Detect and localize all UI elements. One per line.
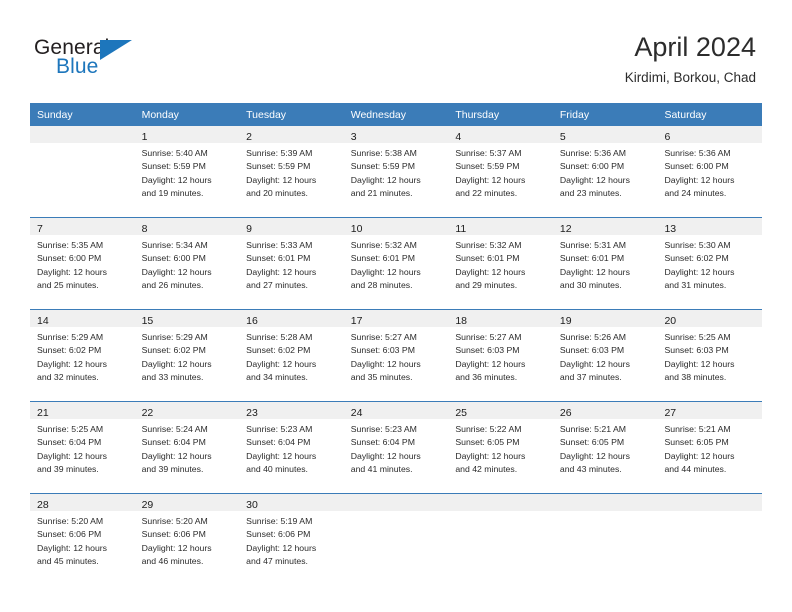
day-number-band [657, 494, 762, 511]
day-detail-line: Daylight: 12 hours [142, 542, 236, 555]
day-detail-line: Daylight: 12 hours [664, 174, 758, 187]
calendar-page: General Blue April 2024 Kirdimi, Borkou,… [0, 0, 792, 612]
day-number-band: 14 [30, 310, 135, 327]
day-detail-line: Daylight: 12 hours [246, 174, 340, 187]
day-details: Sunrise: 5:27 AMSunset: 6:03 PMDaylight:… [344, 327, 449, 384]
day-detail-line: Sunrise: 5:19 AM [246, 515, 340, 528]
calendar-week-row: 1Sunrise: 5:40 AMSunset: 5:59 PMDaylight… [30, 126, 762, 217]
day-detail-line: Sunset: 6:03 PM [455, 344, 549, 357]
day-detail-line: Daylight: 12 hours [142, 358, 236, 371]
calendar-day-cell[interactable]: 18Sunrise: 5:27 AMSunset: 6:03 PMDayligh… [448, 310, 553, 401]
day-detail-line: Sunrise: 5:37 AM [455, 147, 549, 160]
day-details: Sunrise: 5:29 AMSunset: 6:02 PMDaylight:… [30, 327, 135, 384]
day-detail-line: Sunset: 6:03 PM [351, 344, 445, 357]
day-detail-line: Daylight: 12 hours [560, 358, 654, 371]
day-details: Sunrise: 5:19 AMSunset: 6:06 PMDaylight:… [239, 511, 344, 568]
day-number-band: 30 [239, 494, 344, 511]
day-number-band: 20 [657, 310, 762, 327]
day-detail-line: Sunset: 6:04 PM [37, 436, 131, 449]
day-number-band: 7 [30, 218, 135, 235]
day-number: 28 [37, 499, 49, 511]
day-detail-line: Sunrise: 5:36 AM [664, 147, 758, 160]
day-number: 29 [142, 499, 154, 511]
day-detail-line: and 26 minutes. [142, 279, 236, 292]
page-header: General Blue April 2024 Kirdimi, Borkou,… [0, 0, 792, 100]
day-detail-line: Sunset: 6:02 PM [664, 252, 758, 265]
day-number: 21 [37, 407, 49, 419]
day-detail-line: Sunset: 6:06 PM [37, 528, 131, 541]
day-detail-line: Sunrise: 5:25 AM [664, 331, 758, 344]
day-detail-line: Sunrise: 5:35 AM [37, 239, 131, 252]
weekday-header-saturday: Saturday [657, 103, 762, 126]
weekday-header-thursday: Thursday [448, 103, 553, 126]
day-detail-line: Daylight: 12 hours [560, 450, 654, 463]
day-detail-line: Sunset: 6:05 PM [560, 436, 654, 449]
day-detail-line: Sunset: 6:05 PM [664, 436, 758, 449]
day-details: Sunrise: 5:21 AMSunset: 6:05 PMDaylight:… [657, 419, 762, 476]
day-detail-line: and 42 minutes. [455, 463, 549, 476]
day-details: Sunrise: 5:23 AMSunset: 6:04 PMDaylight:… [344, 419, 449, 476]
day-details: Sunrise: 5:25 AMSunset: 6:04 PMDaylight:… [30, 419, 135, 476]
calendar-day-cell-empty [448, 494, 553, 585]
day-detail-line: Sunset: 5:59 PM [246, 160, 340, 173]
day-number-band: 2 [239, 126, 344, 143]
day-details: Sunrise: 5:22 AMSunset: 6:05 PMDaylight:… [448, 419, 553, 476]
day-number-band: 11 [448, 218, 553, 235]
day-detail-line: Sunset: 6:05 PM [455, 436, 549, 449]
day-detail-line: Sunset: 6:01 PM [455, 252, 549, 265]
day-detail-line: Sunrise: 5:23 AM [351, 423, 445, 436]
day-details: Sunrise: 5:32 AMSunset: 6:01 PMDaylight:… [448, 235, 553, 292]
day-details [553, 511, 658, 515]
day-detail-line: Sunset: 6:04 PM [351, 436, 445, 449]
page-subtitle: Kirdimi, Borkou, Chad [625, 68, 756, 88]
day-detail-line: Sunset: 5:59 PM [351, 160, 445, 173]
day-detail-line: and 29 minutes. [455, 279, 549, 292]
day-number: 6 [664, 131, 670, 143]
day-number-band: 19 [553, 310, 658, 327]
day-number: 9 [246, 223, 252, 235]
day-detail-line: Sunrise: 5:36 AM [560, 147, 654, 160]
day-detail-line: Sunset: 6:01 PM [560, 252, 654, 265]
day-detail-line: Daylight: 12 hours [455, 358, 549, 371]
day-details: Sunrise: 5:27 AMSunset: 6:03 PMDaylight:… [448, 327, 553, 384]
page-title: April 2024 [625, 31, 756, 63]
day-number-band [448, 494, 553, 511]
title-block: April 2024 Kirdimi, Borkou, Chad [625, 31, 756, 88]
day-detail-line: Sunset: 6:06 PM [142, 528, 236, 541]
calendar-day-cell[interactable]: 8Sunrise: 5:34 AMSunset: 6:00 PMDaylight… [135, 218, 240, 309]
day-details: Sunrise: 5:28 AMSunset: 6:02 PMDaylight:… [239, 327, 344, 384]
day-detail-line: and 19 minutes. [142, 187, 236, 200]
day-number-band [344, 494, 449, 511]
day-detail-line: and 46 minutes. [142, 555, 236, 568]
day-detail-line: and 38 minutes. [664, 371, 758, 384]
day-details: Sunrise: 5:24 AMSunset: 6:04 PMDaylight:… [135, 419, 240, 476]
calendar-day-cell-empty [657, 494, 762, 585]
day-detail-line: Daylight: 12 hours [37, 542, 131, 555]
calendar-day-cell[interactable]: 16Sunrise: 5:28 AMSunset: 6:02 PMDayligh… [239, 310, 344, 401]
day-number: 26 [560, 407, 572, 419]
day-detail-line: Daylight: 12 hours [246, 266, 340, 279]
calendar-day-cell[interactable]: 5Sunrise: 5:36 AMSunset: 6:00 PMDaylight… [553, 126, 658, 217]
calendar-day-cell[interactable]: 2Sunrise: 5:39 AMSunset: 5:59 PMDaylight… [239, 126, 344, 217]
day-detail-line: Daylight: 12 hours [246, 450, 340, 463]
day-number: 4 [455, 131, 461, 143]
day-detail-line: Sunset: 6:04 PM [142, 436, 236, 449]
day-detail-line: Sunrise: 5:22 AM [455, 423, 549, 436]
calendar-day-cell-empty [344, 494, 449, 585]
day-number-band: 22 [135, 402, 240, 419]
day-detail-line: and 37 minutes. [560, 371, 654, 384]
day-detail-line: Sunrise: 5:34 AM [142, 239, 236, 252]
day-detail-line: Daylight: 12 hours [664, 358, 758, 371]
day-details: Sunrise: 5:34 AMSunset: 6:00 PMDaylight:… [135, 235, 240, 292]
calendar-day-cell[interactable]: 22Sunrise: 5:24 AMSunset: 6:04 PMDayligh… [135, 402, 240, 493]
day-number: 12 [560, 223, 572, 235]
day-number: 27 [664, 407, 676, 419]
day-details: Sunrise: 5:37 AMSunset: 5:59 PMDaylight:… [448, 143, 553, 200]
day-number: 19 [560, 315, 572, 327]
day-number-band: 5 [553, 126, 658, 143]
day-detail-line: and 45 minutes. [37, 555, 131, 568]
calendar-day-cell[interactable]: 11Sunrise: 5:32 AMSunset: 6:01 PMDayligh… [448, 218, 553, 309]
day-number-band: 15 [135, 310, 240, 327]
calendar-week-row: 28Sunrise: 5:20 AMSunset: 6:06 PMDayligh… [30, 493, 762, 585]
day-number-band: 26 [553, 402, 658, 419]
day-detail-line: and 41 minutes. [351, 463, 445, 476]
day-detail-line: Daylight: 12 hours [664, 450, 758, 463]
day-detail-line: and 40 minutes. [246, 463, 340, 476]
day-detail-line: Sunset: 6:00 PM [664, 160, 758, 173]
day-detail-line: Sunset: 6:01 PM [246, 252, 340, 265]
day-number: 11 [455, 223, 466, 235]
day-details [344, 511, 449, 515]
brand-logo[interactable]: General Blue [34, 36, 164, 84]
calendar-day-cell[interactable]: 25Sunrise: 5:22 AMSunset: 6:05 PMDayligh… [448, 402, 553, 493]
day-detail-line: Sunset: 5:59 PM [455, 160, 549, 173]
calendar-grid: SundayMondayTuesdayWednesdayThursdayFrid… [30, 103, 762, 585]
day-details: Sunrise: 5:33 AMSunset: 6:01 PMDaylight:… [239, 235, 344, 292]
day-detail-line: and 32 minutes. [37, 371, 131, 384]
day-detail-line: and 44 minutes. [664, 463, 758, 476]
day-details: Sunrise: 5:21 AMSunset: 6:05 PMDaylight:… [553, 419, 658, 476]
day-number: 13 [664, 223, 676, 235]
day-detail-line: Sunrise: 5:27 AM [351, 331, 445, 344]
day-detail-line: Daylight: 12 hours [455, 266, 549, 279]
day-number-band: 8 [135, 218, 240, 235]
day-number-band: 10 [344, 218, 449, 235]
day-details: Sunrise: 5:30 AMSunset: 6:02 PMDaylight:… [657, 235, 762, 292]
day-detail-line: Sunrise: 5:20 AM [37, 515, 131, 528]
day-detail-line: and 23 minutes. [560, 187, 654, 200]
day-detail-line: and 43 minutes. [560, 463, 654, 476]
day-number: 30 [246, 499, 258, 511]
day-number-band: 23 [239, 402, 344, 419]
day-detail-line: Sunset: 6:06 PM [246, 528, 340, 541]
day-detail-line: Sunset: 6:03 PM [664, 344, 758, 357]
calendar-day-cell[interactable]: 27Sunrise: 5:21 AMSunset: 6:05 PMDayligh… [657, 402, 762, 493]
day-number-band: 9 [239, 218, 344, 235]
day-details: Sunrise: 5:39 AMSunset: 5:59 PMDaylight:… [239, 143, 344, 200]
day-number-band: 16 [239, 310, 344, 327]
day-details: Sunrise: 5:38 AMSunset: 5:59 PMDaylight:… [344, 143, 449, 200]
day-number-band: 13 [657, 218, 762, 235]
day-details: Sunrise: 5:20 AMSunset: 6:06 PMDaylight:… [135, 511, 240, 568]
day-number-band: 18 [448, 310, 553, 327]
calendar-day-cell[interactable]: 14Sunrise: 5:29 AMSunset: 6:02 PMDayligh… [30, 310, 135, 401]
brand-triangle-icon [100, 40, 132, 60]
day-number: 8 [142, 223, 148, 235]
day-details [30, 143, 135, 147]
day-number: 25 [455, 407, 467, 419]
calendar-day-cell[interactable]: 6Sunrise: 5:36 AMSunset: 6:00 PMDaylight… [657, 126, 762, 217]
day-details: Sunrise: 5:31 AMSunset: 6:01 PMDaylight:… [553, 235, 658, 292]
day-number-band: 17 [344, 310, 449, 327]
day-number-band: 28 [30, 494, 135, 511]
day-number: 23 [246, 407, 258, 419]
day-detail-line: and 31 minutes. [664, 279, 758, 292]
day-number: 24 [351, 407, 363, 419]
day-detail-line: Daylight: 12 hours [142, 266, 236, 279]
day-detail-line: and 33 minutes. [142, 371, 236, 384]
day-detail-line: Sunrise: 5:32 AM [351, 239, 445, 252]
day-detail-line: Daylight: 12 hours [37, 266, 131, 279]
day-detail-line: Daylight: 12 hours [246, 358, 340, 371]
calendar-day-cell[interactable]: 1Sunrise: 5:40 AMSunset: 5:59 PMDaylight… [135, 126, 240, 217]
calendar-day-cell[interactable]: 29Sunrise: 5:20 AMSunset: 6:06 PMDayligh… [135, 494, 240, 585]
day-detail-line: Sunset: 6:00 PM [37, 252, 131, 265]
day-details: Sunrise: 5:25 AMSunset: 6:03 PMDaylight:… [657, 327, 762, 384]
day-detail-line: Daylight: 12 hours [351, 450, 445, 463]
day-detail-line: Daylight: 12 hours [142, 450, 236, 463]
day-number: 17 [351, 315, 363, 327]
calendar-day-cell-empty [553, 494, 658, 585]
calendar-day-cell[interactable]: 15Sunrise: 5:29 AMSunset: 6:02 PMDayligh… [135, 310, 240, 401]
day-detail-line: and 39 minutes. [37, 463, 131, 476]
calendar-day-cell[interactable]: 24Sunrise: 5:23 AMSunset: 6:04 PMDayligh… [344, 402, 449, 493]
day-detail-line: Daylight: 12 hours [37, 450, 131, 463]
day-detail-line: Sunrise: 5:21 AM [664, 423, 758, 436]
day-detail-line: Sunset: 6:02 PM [246, 344, 340, 357]
day-detail-line: Sunset: 6:00 PM [142, 252, 236, 265]
day-number: 20 [664, 315, 676, 327]
day-detail-line: Daylight: 12 hours [560, 266, 654, 279]
day-detail-line: Sunrise: 5:40 AM [142, 147, 236, 160]
day-details: Sunrise: 5:29 AMSunset: 6:02 PMDaylight:… [135, 327, 240, 384]
calendar-day-cell[interactable]: 13Sunrise: 5:30 AMSunset: 6:02 PMDayligh… [657, 218, 762, 309]
day-detail-line: Sunrise: 5:29 AM [37, 331, 131, 344]
calendar-day-cell-empty [30, 126, 135, 217]
day-detail-line: and 22 minutes. [455, 187, 549, 200]
calendar-day-cell[interactable]: 3Sunrise: 5:38 AMSunset: 5:59 PMDaylight… [344, 126, 449, 217]
day-number-band: 6 [657, 126, 762, 143]
day-detail-line: and 35 minutes. [351, 371, 445, 384]
calendar-day-cell[interactable]: 20Sunrise: 5:25 AMSunset: 6:03 PMDayligh… [657, 310, 762, 401]
day-details: Sunrise: 5:36 AMSunset: 6:00 PMDaylight:… [657, 143, 762, 200]
day-detail-line: Daylight: 12 hours [455, 174, 549, 187]
calendar-day-cell[interactable]: 26Sunrise: 5:21 AMSunset: 6:05 PMDayligh… [553, 402, 658, 493]
weekday-header-tuesday: Tuesday [239, 103, 344, 126]
day-detail-line: Sunrise: 5:29 AM [142, 331, 236, 344]
day-number: 5 [560, 131, 566, 143]
day-number-band: 4 [448, 126, 553, 143]
day-number: 14 [37, 315, 49, 327]
day-details: Sunrise: 5:23 AMSunset: 6:04 PMDaylight:… [239, 419, 344, 476]
day-details: Sunrise: 5:26 AMSunset: 6:03 PMDaylight:… [553, 327, 658, 384]
calendar-day-cell[interactable]: 4Sunrise: 5:37 AMSunset: 5:59 PMDaylight… [448, 126, 553, 217]
day-number: 18 [455, 315, 467, 327]
day-detail-line: Daylight: 12 hours [560, 174, 654, 187]
day-detail-line: Sunrise: 5:28 AM [246, 331, 340, 344]
day-detail-line: and 30 minutes. [560, 279, 654, 292]
day-detail-line: Sunrise: 5:33 AM [246, 239, 340, 252]
day-detail-line: Sunrise: 5:25 AM [37, 423, 131, 436]
day-number-band: 29 [135, 494, 240, 511]
day-detail-line: Sunrise: 5:23 AM [246, 423, 340, 436]
day-number: 1 [142, 131, 148, 143]
day-detail-line: Sunrise: 5:24 AM [142, 423, 236, 436]
weekday-header-friday: Friday [553, 103, 658, 126]
day-detail-line: and 24 minutes. [664, 187, 758, 200]
day-detail-line: Sunrise: 5:20 AM [142, 515, 236, 528]
weekday-header-wednesday: Wednesday [344, 103, 449, 126]
calendar-day-cell[interactable]: 12Sunrise: 5:31 AMSunset: 6:01 PMDayligh… [553, 218, 658, 309]
day-detail-line: and 21 minutes. [351, 187, 445, 200]
day-detail-line: Sunrise: 5:30 AM [664, 239, 758, 252]
day-detail-line: and 28 minutes. [351, 279, 445, 292]
day-detail-line: Daylight: 12 hours [37, 358, 131, 371]
day-detail-line: Daylight: 12 hours [351, 358, 445, 371]
calendar-week-row: 14Sunrise: 5:29 AMSunset: 6:02 PMDayligh… [30, 309, 762, 401]
calendar-day-cell[interactable]: 17Sunrise: 5:27 AMSunset: 6:03 PMDayligh… [344, 310, 449, 401]
day-detail-line: Sunrise: 5:32 AM [455, 239, 549, 252]
day-detail-line: and 27 minutes. [246, 279, 340, 292]
day-detail-line: Sunrise: 5:31 AM [560, 239, 654, 252]
day-number-band: 27 [657, 402, 762, 419]
day-detail-line: Sunrise: 5:38 AM [351, 147, 445, 160]
day-detail-line: Daylight: 12 hours [351, 266, 445, 279]
day-number-band: 25 [448, 402, 553, 419]
day-detail-line: Daylight: 12 hours [351, 174, 445, 187]
day-detail-line: Daylight: 12 hours [246, 542, 340, 555]
day-number-band: 1 [135, 126, 240, 143]
day-details [448, 511, 553, 515]
day-detail-line: Sunset: 6:00 PM [560, 160, 654, 173]
day-number-band [553, 494, 658, 511]
day-details: Sunrise: 5:35 AMSunset: 6:00 PMDaylight:… [30, 235, 135, 292]
day-detail-line: and 25 minutes. [37, 279, 131, 292]
day-detail-line: Sunset: 6:01 PM [351, 252, 445, 265]
calendar-week-row: 21Sunrise: 5:25 AMSunset: 6:04 PMDayligh… [30, 401, 762, 493]
day-detail-line: Daylight: 12 hours [664, 266, 758, 279]
calendar-day-cell[interactable]: 30Sunrise: 5:19 AMSunset: 6:06 PMDayligh… [239, 494, 344, 585]
day-number: 16 [246, 315, 258, 327]
day-detail-line: and 47 minutes. [246, 555, 340, 568]
day-number-band: 12 [553, 218, 658, 235]
day-detail-line: and 36 minutes. [455, 371, 549, 384]
day-detail-line: Daylight: 12 hours [142, 174, 236, 187]
day-number-band: 3 [344, 126, 449, 143]
day-detail-line: Sunset: 6:02 PM [37, 344, 131, 357]
day-detail-line: Sunrise: 5:27 AM [455, 331, 549, 344]
day-number-band: 21 [30, 402, 135, 419]
day-number: 15 [142, 315, 154, 327]
day-detail-line: Sunset: 6:02 PM [142, 344, 236, 357]
day-details: Sunrise: 5:20 AMSunset: 6:06 PMDaylight:… [30, 511, 135, 568]
weekday-header-row: SundayMondayTuesdayWednesdayThursdayFrid… [30, 103, 762, 126]
calendar-day-cell[interactable]: 19Sunrise: 5:26 AMSunset: 6:03 PMDayligh… [553, 310, 658, 401]
day-number-band: 24 [344, 402, 449, 419]
day-number: 3 [351, 131, 357, 143]
calendar-week-row: 7Sunrise: 5:35 AMSunset: 6:00 PMDaylight… [30, 217, 762, 309]
weekday-header-sunday: Sunday [30, 103, 135, 126]
day-detail-line: Sunset: 5:59 PM [142, 160, 236, 173]
day-detail-line: Sunset: 6:03 PM [560, 344, 654, 357]
day-details [657, 511, 762, 515]
calendar-day-cell[interactable]: 28Sunrise: 5:20 AMSunset: 6:06 PMDayligh… [30, 494, 135, 585]
day-details: Sunrise: 5:36 AMSunset: 6:00 PMDaylight:… [553, 143, 658, 200]
day-detail-line: Sunrise: 5:39 AM [246, 147, 340, 160]
calendar-day-cell[interactable]: 23Sunrise: 5:23 AMSunset: 6:04 PMDayligh… [239, 402, 344, 493]
weekday-header-monday: Monday [135, 103, 240, 126]
day-detail-line: and 20 minutes. [246, 187, 340, 200]
brand-logo-blue-text: Blue [56, 55, 98, 79]
day-detail-line: Sunrise: 5:21 AM [560, 423, 654, 436]
day-number-band [30, 126, 135, 143]
calendar-day-cell[interactable]: 10Sunrise: 5:32 AMSunset: 6:01 PMDayligh… [344, 218, 449, 309]
day-detail-line: and 39 minutes. [142, 463, 236, 476]
calendar-day-cell[interactable]: 9Sunrise: 5:33 AMSunset: 6:01 PMDaylight… [239, 218, 344, 309]
day-detail-line: and 34 minutes. [246, 371, 340, 384]
calendar-day-cell[interactable]: 7Sunrise: 5:35 AMSunset: 6:00 PMDaylight… [30, 218, 135, 309]
day-detail-line: Sunrise: 5:26 AM [560, 331, 654, 344]
calendar-day-cell[interactable]: 21Sunrise: 5:25 AMSunset: 6:04 PMDayligh… [30, 402, 135, 493]
day-details: Sunrise: 5:32 AMSunset: 6:01 PMDaylight:… [344, 235, 449, 292]
day-number: 2 [246, 131, 252, 143]
day-number: 10 [351, 223, 363, 235]
day-details: Sunrise: 5:40 AMSunset: 5:59 PMDaylight:… [135, 143, 240, 200]
day-number: 22 [142, 407, 154, 419]
day-detail-line: Sunset: 6:04 PM [246, 436, 340, 449]
calendar-weeks: 1Sunrise: 5:40 AMSunset: 5:59 PMDaylight… [30, 126, 762, 585]
day-number: 7 [37, 223, 43, 235]
day-detail-line: Daylight: 12 hours [455, 450, 549, 463]
